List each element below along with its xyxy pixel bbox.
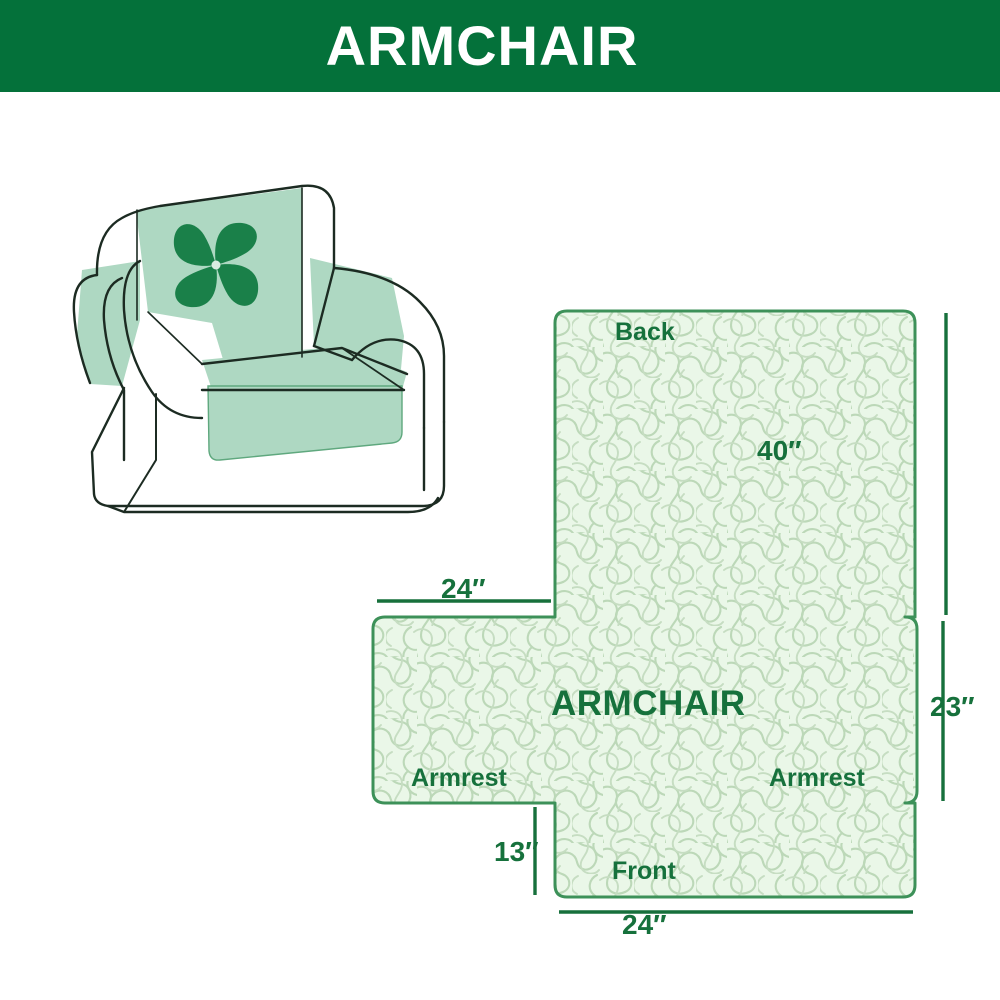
label-front: Front	[612, 859, 676, 884]
chair-base-left-fold	[124, 394, 156, 512]
dimension-label-front-width: 24″	[622, 911, 667, 939]
page-title: ARMCHAIR	[326, 18, 639, 74]
dimension-label-body-height: 23″	[930, 693, 975, 721]
label-armrest-left: Armrest	[411, 766, 507, 791]
label-back: Back	[615, 320, 675, 345]
quilting-pattern	[355, 285, 1000, 955]
cover-cross-shape	[355, 285, 1000, 955]
diagram-center-label: ARMCHAIR	[551, 686, 746, 721]
label-armrest-right: Armrest	[769, 766, 865, 791]
dimension-label-front-height: 13″	[494, 838, 539, 866]
page-root: ARMCHAIR	[0, 0, 1000, 1000]
dimension-label-back-height: 40″	[757, 437, 802, 465]
cover-left-arm-panel	[77, 261, 140, 386]
cover-back-panel	[136, 188, 302, 366]
dimension-label-back-width: 24″	[441, 575, 486, 603]
cover-flat-pattern-diagram	[355, 285, 1000, 955]
header-bar: ARMCHAIR	[0, 0, 1000, 92]
